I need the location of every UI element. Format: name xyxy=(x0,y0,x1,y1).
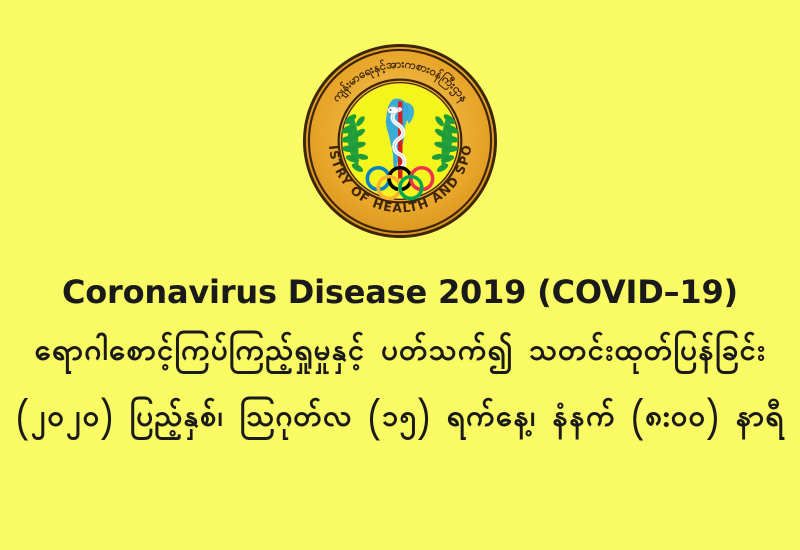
subtitle-myanmar-date-line: (၂၀၂၀) ပြည့်နှစ်၊ သြဂုတ်လ (၁၅) ရက်နေ့၊ န… xyxy=(0,404,800,435)
page-title-english: Coronavirus Disease 2019 (COVID–19) xyxy=(0,276,800,308)
covid-press-release-banner: ကျန်းမာရေးနှင့်အားကစားဝန်ကြီးဌာန MINISTR… xyxy=(0,0,800,550)
subtitle-myanmar-surveillance-line: ရောဂါစောင့်ကြပ်ကြည့်ရှုမှုနှင့် ပတ်သက်၍ … xyxy=(0,338,800,369)
ministry-seal: ကျန်းမာရေးနှင့်အားကစားဝန်ကြီးဌာန MINISTR… xyxy=(301,42,499,240)
